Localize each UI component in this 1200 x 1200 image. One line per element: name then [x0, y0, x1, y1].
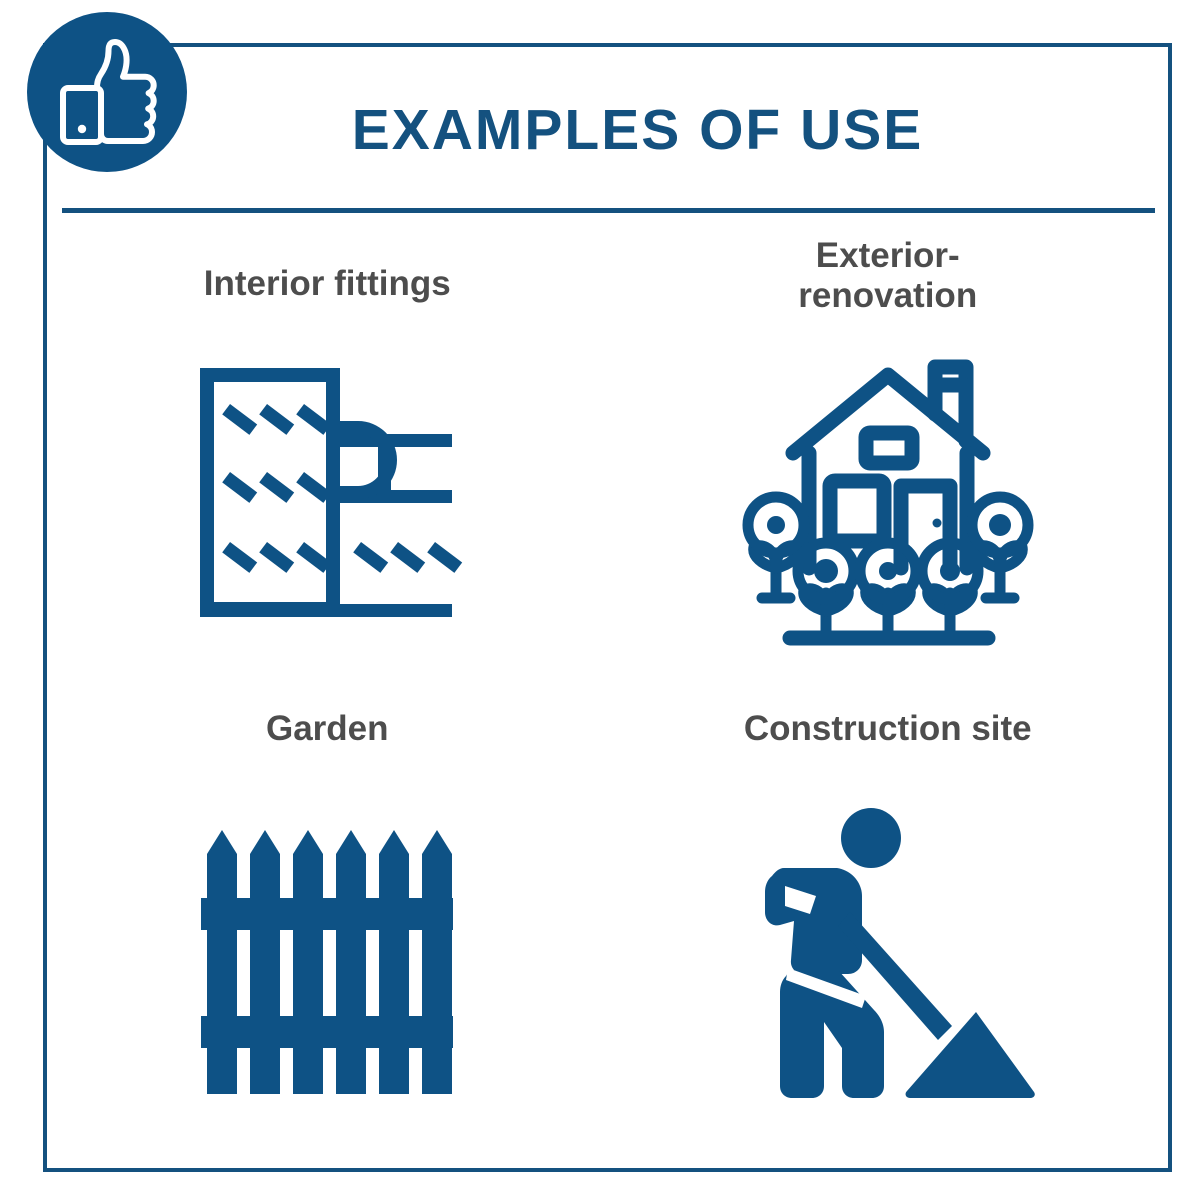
picket-fence-icon — [201, 816, 453, 1094]
header-divider — [62, 208, 1155, 213]
example-art-garden — [47, 743, 608, 1168]
example-art-construction-site — [608, 733, 1169, 1168]
thumbs-up-badge — [27, 12, 187, 172]
example-art-exterior-renovation — [608, 312, 1169, 695]
page-title: EXAMPLES OF USE — [292, 102, 924, 159]
example-item-interior-fittings: Interior fittings — [47, 222, 608, 695]
example-item-exterior-renovation: Exterior- renovation — [608, 222, 1169, 695]
construction-worker-digging-icon — [738, 800, 1038, 1100]
example-art-interior-fittings — [47, 298, 608, 695]
thumbs-up-icon — [27, 12, 187, 172]
insulated-wall-panel-icon — [182, 356, 472, 636]
example-label-exterior-renovation: Exterior- renovation — [798, 236, 977, 316]
examples-grid: Interior fittings — [47, 222, 1168, 1168]
example-item-construction-site: Construction site — [608, 695, 1169, 1168]
example-item-garden: Garden — [47, 695, 608, 1168]
house-with-flowers-icon — [738, 353, 1038, 653]
panel-header: EXAMPLES OF USE — [47, 47, 1168, 214]
examples-of-use-panel: EXAMPLES OF USE Interior fittings — [0, 0, 1200, 1200]
